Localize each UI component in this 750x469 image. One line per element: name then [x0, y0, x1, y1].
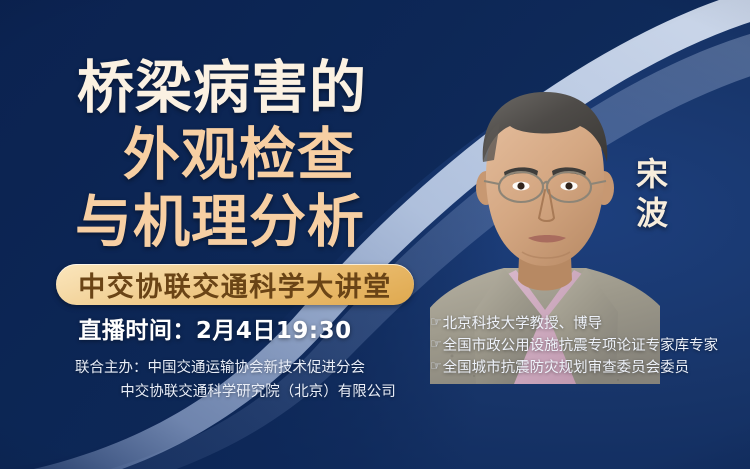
- webinar-poster: 桥梁病害的 外观检查 与机理分析 中交协联交通科学大讲堂 直播时间：2月4日19…: [0, 0, 750, 469]
- vignette-overlay: [0, 0, 750, 469]
